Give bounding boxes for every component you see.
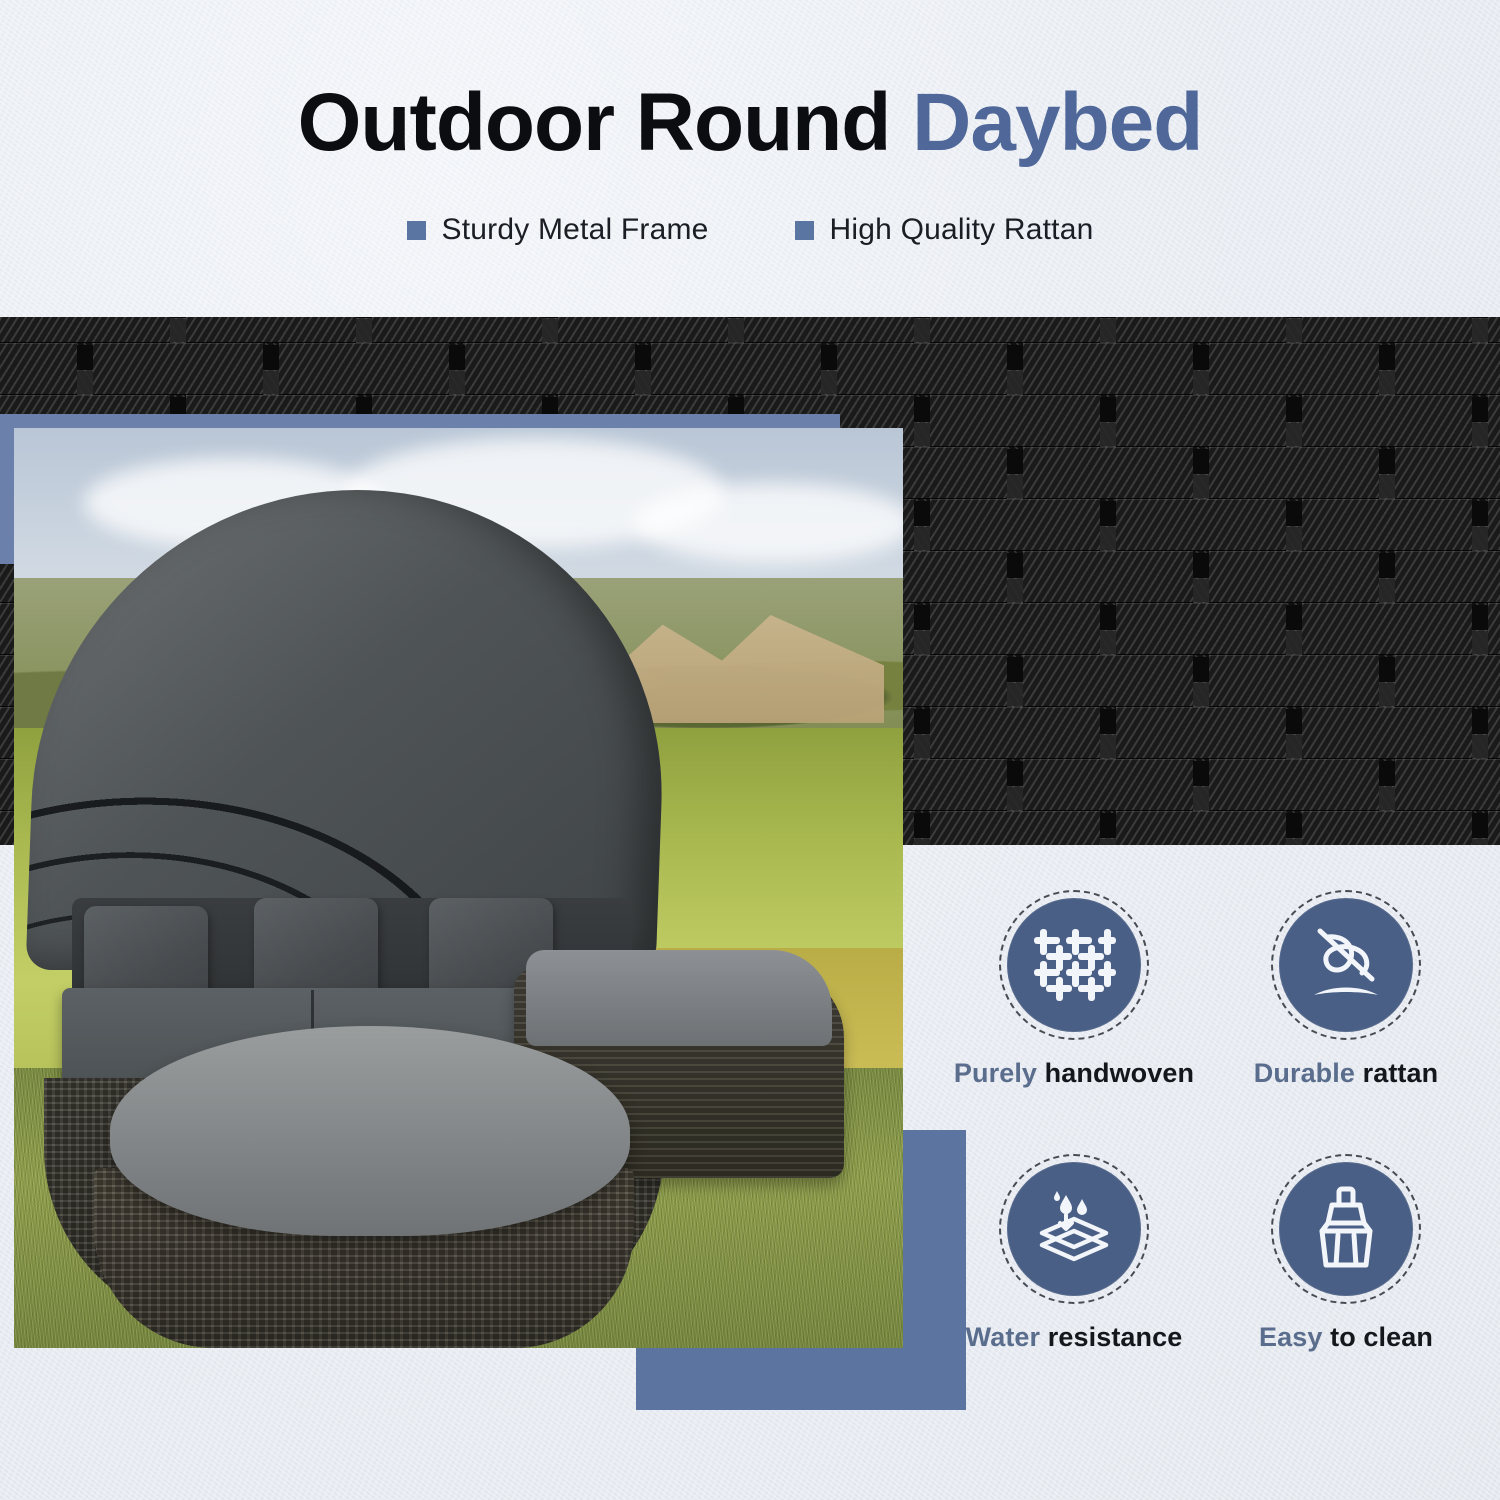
rattan-weave-block <box>1488 317 1500 343</box>
feature-icon-badge <box>999 1154 1149 1304</box>
page-title-accent: Daybed <box>912 77 1202 168</box>
feature-label-word2: handwoven <box>1045 1058 1194 1088</box>
feature-item-easy-clean: Easy to clean <box>1212 1154 1480 1410</box>
feature-item-water-resistance: Water resistance <box>940 1154 1208 1410</box>
rattan-weave-block <box>1209 759 1379 811</box>
feature-icon-badge <box>999 890 1149 1040</box>
rattan-weave-block <box>1023 447 1193 499</box>
page-title-primary: Outdoor Round <box>298 77 913 168</box>
rattan-weave-block <box>1023 655 1193 707</box>
rattan-weave-block <box>1209 655 1379 707</box>
rattan-weave-block <box>930 317 1100 343</box>
rattan-weave-block <box>744 317 914 343</box>
water-droplet-layers-icon <box>1026 1181 1122 1277</box>
feature-grid: Purely handwoven Durab <box>940 890 1480 1410</box>
rattan-weave-block <box>930 603 1100 655</box>
feature-icon-badge <box>1271 890 1421 1040</box>
feature-bullets: Sturdy Metal Frame High Quality Rattan <box>0 213 1500 247</box>
feature-label-word1: Durable <box>1254 1058 1355 1088</box>
feature-item-handwoven: Purely handwoven <box>940 890 1208 1146</box>
bullet-label: Sturdy Metal Frame <box>442 213 709 247</box>
rattan-weave-block <box>1488 603 1500 655</box>
rattan-weave-block <box>1488 395 1500 447</box>
rattan-weave-block <box>930 499 1100 551</box>
feature-label: Easy to clean <box>1259 1322 1433 1353</box>
rattan-weave-block <box>465 343 635 395</box>
icon-circle <box>1279 1162 1413 1296</box>
icon-circle <box>1007 898 1141 1032</box>
icon-circle <box>1007 1162 1141 1296</box>
rattan-weave-block <box>930 395 1100 447</box>
rattan-weave-block <box>93 343 263 395</box>
product-infographic-page: Outdoor Round Daybed Sturdy Metal Frame … <box>0 0 1500 1500</box>
rattan-weave-block <box>1116 395 1286 447</box>
bullet-item-rattan: High Quality Rattan <box>795 213 1094 247</box>
square-bullet-icon <box>407 221 426 240</box>
rattan-weave-block <box>1302 603 1472 655</box>
square-bullet-icon <box>795 221 814 240</box>
feature-label-word2: to clean <box>1330 1322 1433 1352</box>
feature-label: Durable rattan <box>1254 1058 1438 1089</box>
rattan-weave-block <box>1302 317 1472 343</box>
rattan-weave-block <box>1209 447 1379 499</box>
rattan-weave-block <box>1395 759 1500 811</box>
bullet-item-metal-frame: Sturdy Metal Frame <box>407 213 709 247</box>
header: Outdoor Round Daybed Sturdy Metal Frame … <box>0 0 1500 300</box>
rattan-weave-block <box>1023 551 1193 603</box>
bullet-label: High Quality Rattan <box>830 213 1094 247</box>
product-photo <box>14 428 903 1348</box>
daybed-round-ottoman-cushion <box>110 1026 630 1236</box>
rattan-weave-block <box>1116 707 1286 759</box>
feature-label-word2: resistance <box>1048 1322 1183 1352</box>
rattan-weave-block <box>837 343 1007 395</box>
rattan-weave-block <box>1116 317 1286 343</box>
feature-label: Purely handwoven <box>954 1058 1194 1089</box>
rattan-weave-block <box>1488 499 1500 551</box>
rattan-weave-block <box>1209 551 1379 603</box>
feature-item-durable-rattan: Durable rattan <box>1212 890 1480 1146</box>
feature-icon-badge <box>1271 1154 1421 1304</box>
daybed-side-ottoman-cushion <box>526 950 832 1046</box>
rattan-weave-block <box>1302 499 1472 551</box>
feature-label-word1: Water <box>966 1322 1041 1352</box>
rattan-weave-block <box>930 707 1100 759</box>
rattan-weave-block <box>1116 811 1286 845</box>
rattan-weave-block <box>279 343 449 395</box>
feature-label: Water resistance <box>966 1322 1183 1353</box>
rattan-weave-block <box>1395 447 1500 499</box>
rattan-weave-block <box>558 317 728 343</box>
rattan-weave-block <box>0 343 77 395</box>
rattan-weave-block <box>1209 343 1379 395</box>
rattan-weave-block <box>1302 707 1472 759</box>
rattan-weave-block <box>1302 395 1472 447</box>
rattan-weave-block <box>1395 551 1500 603</box>
icon-circle <box>1279 898 1413 1032</box>
rattan-weave-block <box>372 317 542 343</box>
rattan-weave-block <box>1116 603 1286 655</box>
rattan-weave-block <box>0 317 170 343</box>
rattan-weave-block <box>1395 655 1500 707</box>
rattan-weave-block <box>1023 759 1193 811</box>
no-scratch-icon <box>1298 917 1394 1013</box>
rattan-weave-block <box>651 343 821 395</box>
woven-basket-icon <box>1026 917 1122 1013</box>
rattan-weave-block <box>1488 707 1500 759</box>
rattan-weave-block <box>1116 499 1286 551</box>
rattan-weave-block <box>186 317 356 343</box>
rattan-weave-block <box>1023 343 1193 395</box>
rattan-weave-block <box>1488 811 1500 845</box>
rattan-weave-block <box>1302 811 1472 845</box>
rattan-weave-block <box>930 811 1100 845</box>
feature-label-word1: Purely <box>954 1058 1037 1088</box>
rattan-weave-block <box>1395 343 1500 395</box>
page-title: Outdoor Round Daybed <box>0 82 1500 164</box>
feature-label-word1: Easy <box>1259 1322 1322 1352</box>
feature-label-word2: rattan <box>1363 1058 1439 1088</box>
broom-icon <box>1298 1181 1394 1277</box>
photo-cloud <box>634 483 903 563</box>
